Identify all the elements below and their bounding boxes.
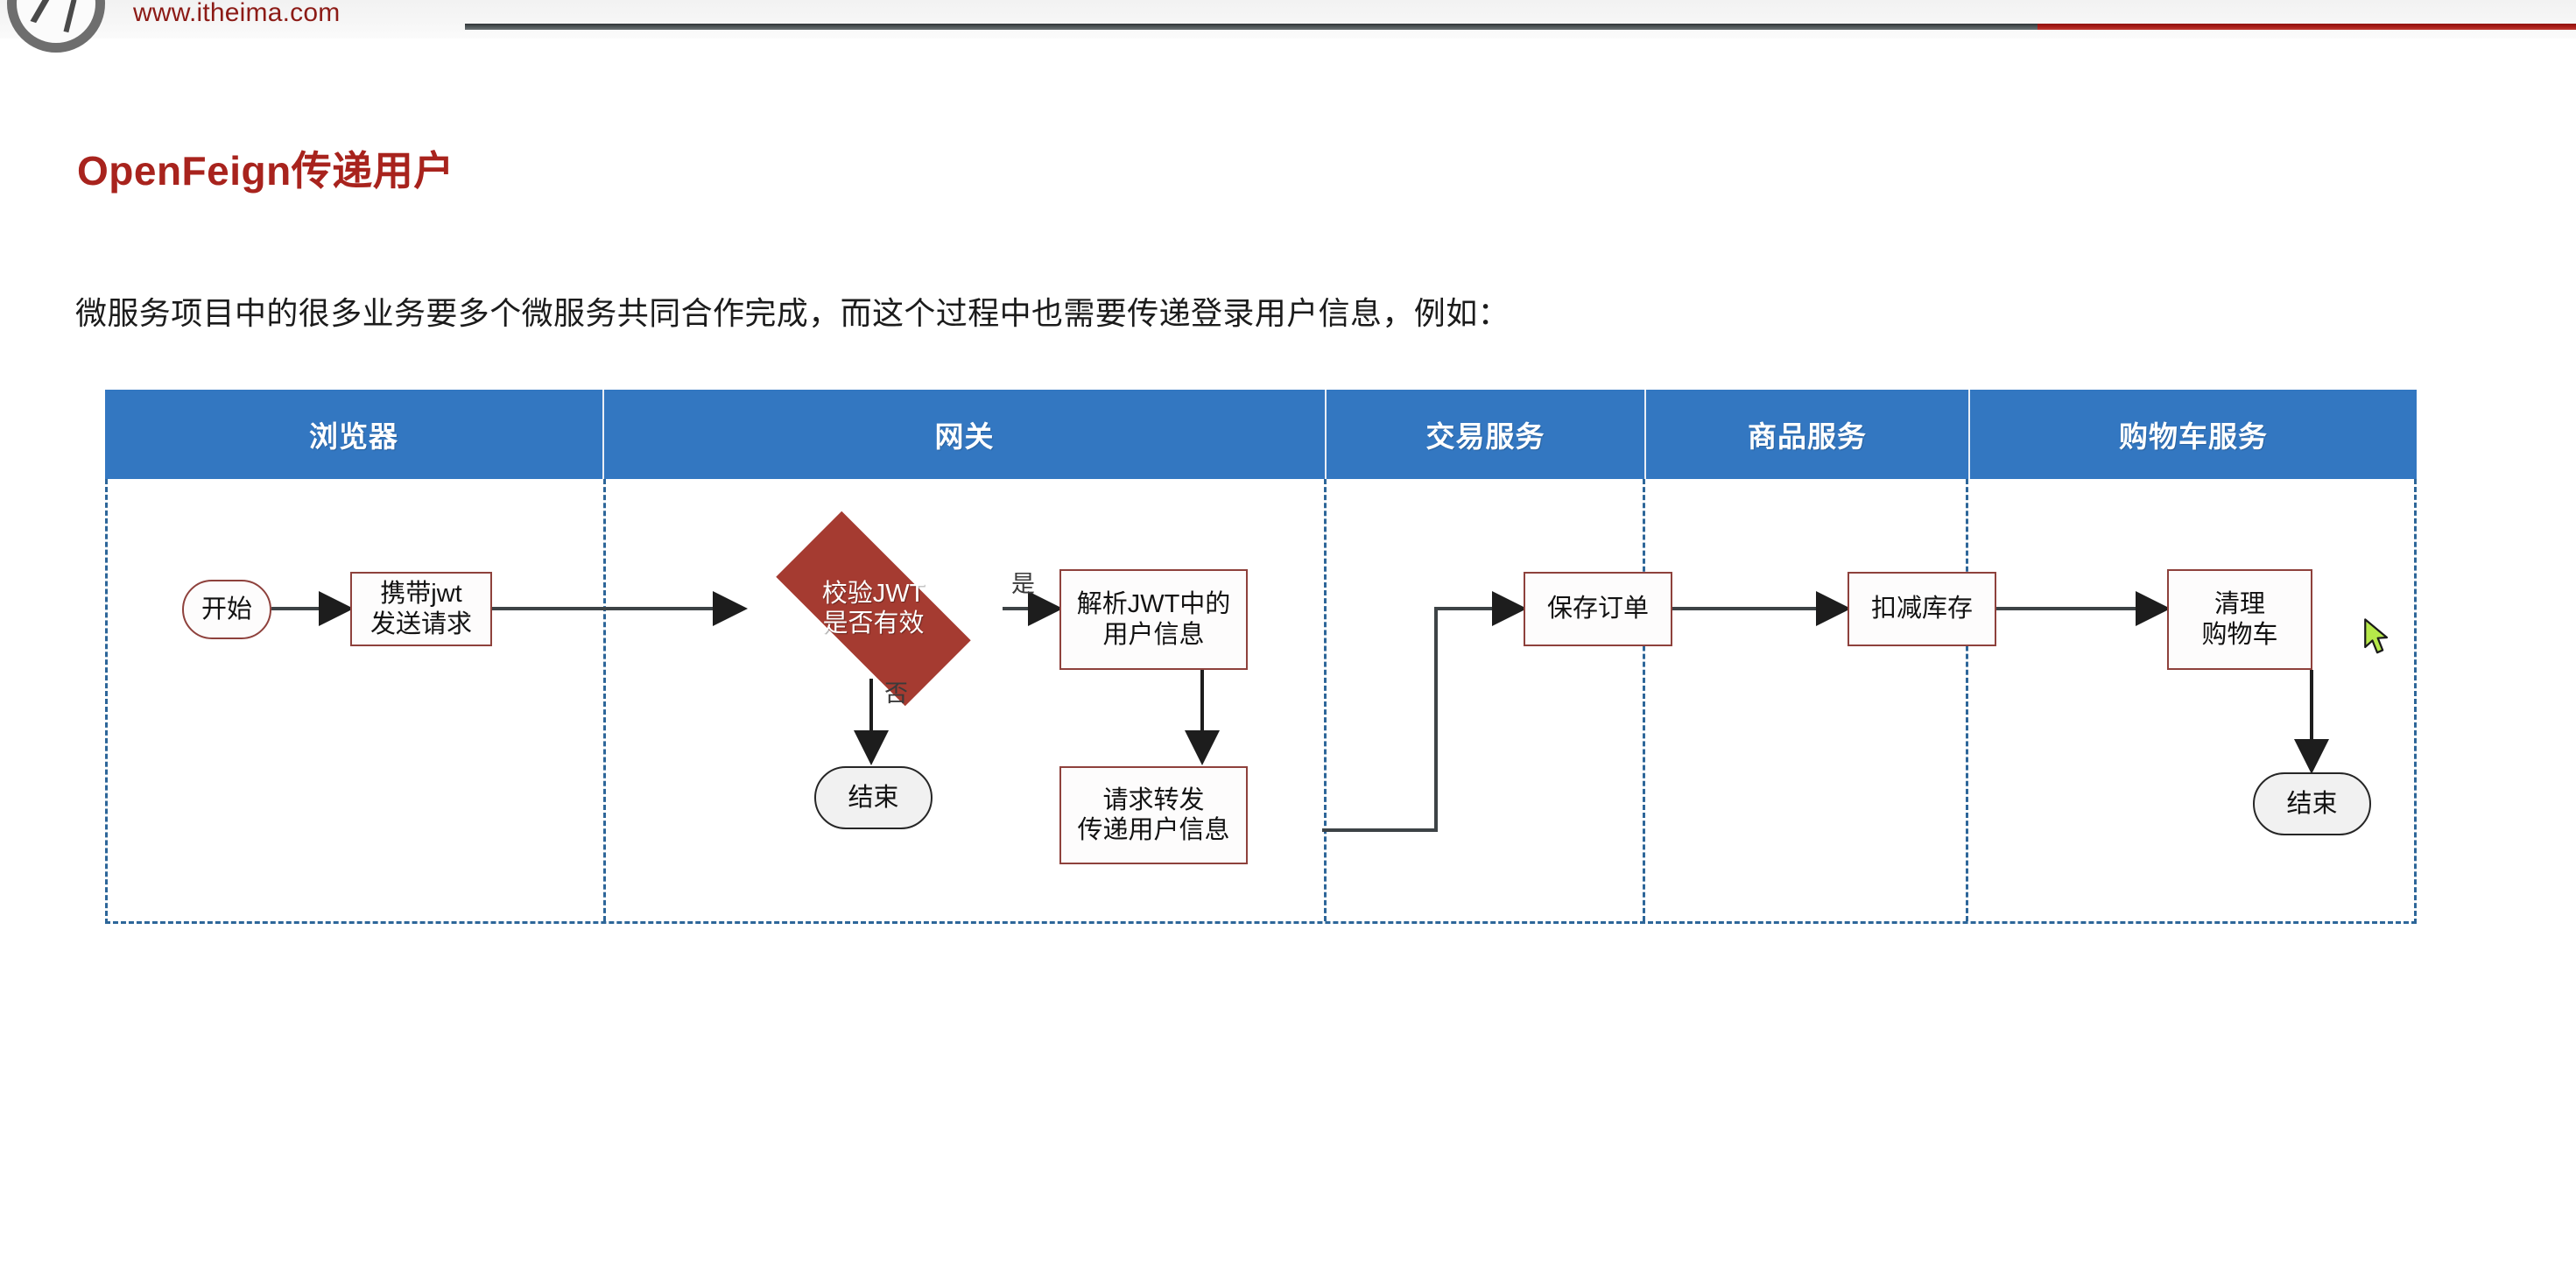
lane-header-trade: 交易服务: [1327, 390, 1646, 479]
header-rule-red-segment: [2038, 24, 2576, 30]
lane-cell-browser: [108, 479, 606, 921]
lane-cell-product: [1645, 479, 1968, 921]
lane-header-product: 商品服务: [1646, 390, 1970, 479]
lane-cell-cart: [1968, 479, 2414, 921]
node-end-gateway[interactable]: 结束: [814, 766, 933, 829]
itheima-logo-icon: [7, 0, 105, 53]
swimlane-body: [105, 479, 2417, 924]
edge-label-no: 否: [884, 674, 908, 708]
header-divider-rule: [465, 24, 2576, 30]
site-url-label: www.itheima.com: [133, 0, 340, 26]
node-end-cart[interactable]: 结束: [2253, 772, 2371, 835]
swimlane-header-row: 浏览器 网关 交易服务 商品服务 购物车服务: [105, 390, 2417, 479]
mouse-pointer-icon: [2362, 618, 2392, 657]
page-title: OpenFeign传递用户: [77, 139, 454, 197]
intro-paragraph: 微服务项目中的很多业务要多个微服务共同合作完成，而这个过程中也需要传递登录用户信…: [75, 288, 1510, 334]
lane-cell-trade: [1327, 479, 1645, 921]
page-header-bar: www.itheima.com: [0, 0, 2576, 39]
node-start[interactable]: 开始: [182, 580, 271, 639]
lane-header-gateway: 网关: [604, 390, 1327, 479]
node-clear-cart[interactable]: 清理 购物车: [2167, 569, 2312, 670]
lane-header-browser: 浏览器: [105, 390, 604, 479]
node-save-order[interactable]: 保存订单: [1524, 572, 1672, 646]
node-send-request[interactable]: 携带jwt 发送请求: [350, 572, 492, 646]
node-verify-jwt[interactable]: 校验JWT 是否有效: [744, 543, 1003, 674]
edge-label-yes: 是: [1011, 565, 1035, 599]
header-rule-dark-segment: [465, 24, 2038, 30]
swimlane-flowchart: 浏览器 网关 交易服务 商品服务 购物车服务: [105, 390, 2417, 968]
lane-header-cart: 购物车服务: [1970, 390, 2417, 479]
node-verify-jwt-label: 校验JWT 是否有效: [822, 579, 926, 638]
node-parse-jwt[interactable]: 解析JWT中的 用户信息: [1059, 569, 1248, 670]
node-deduct-stock[interactable]: 扣减库存: [1848, 572, 1996, 646]
node-forward-request[interactable]: 请求转发 传递用户信息: [1059, 766, 1248, 864]
